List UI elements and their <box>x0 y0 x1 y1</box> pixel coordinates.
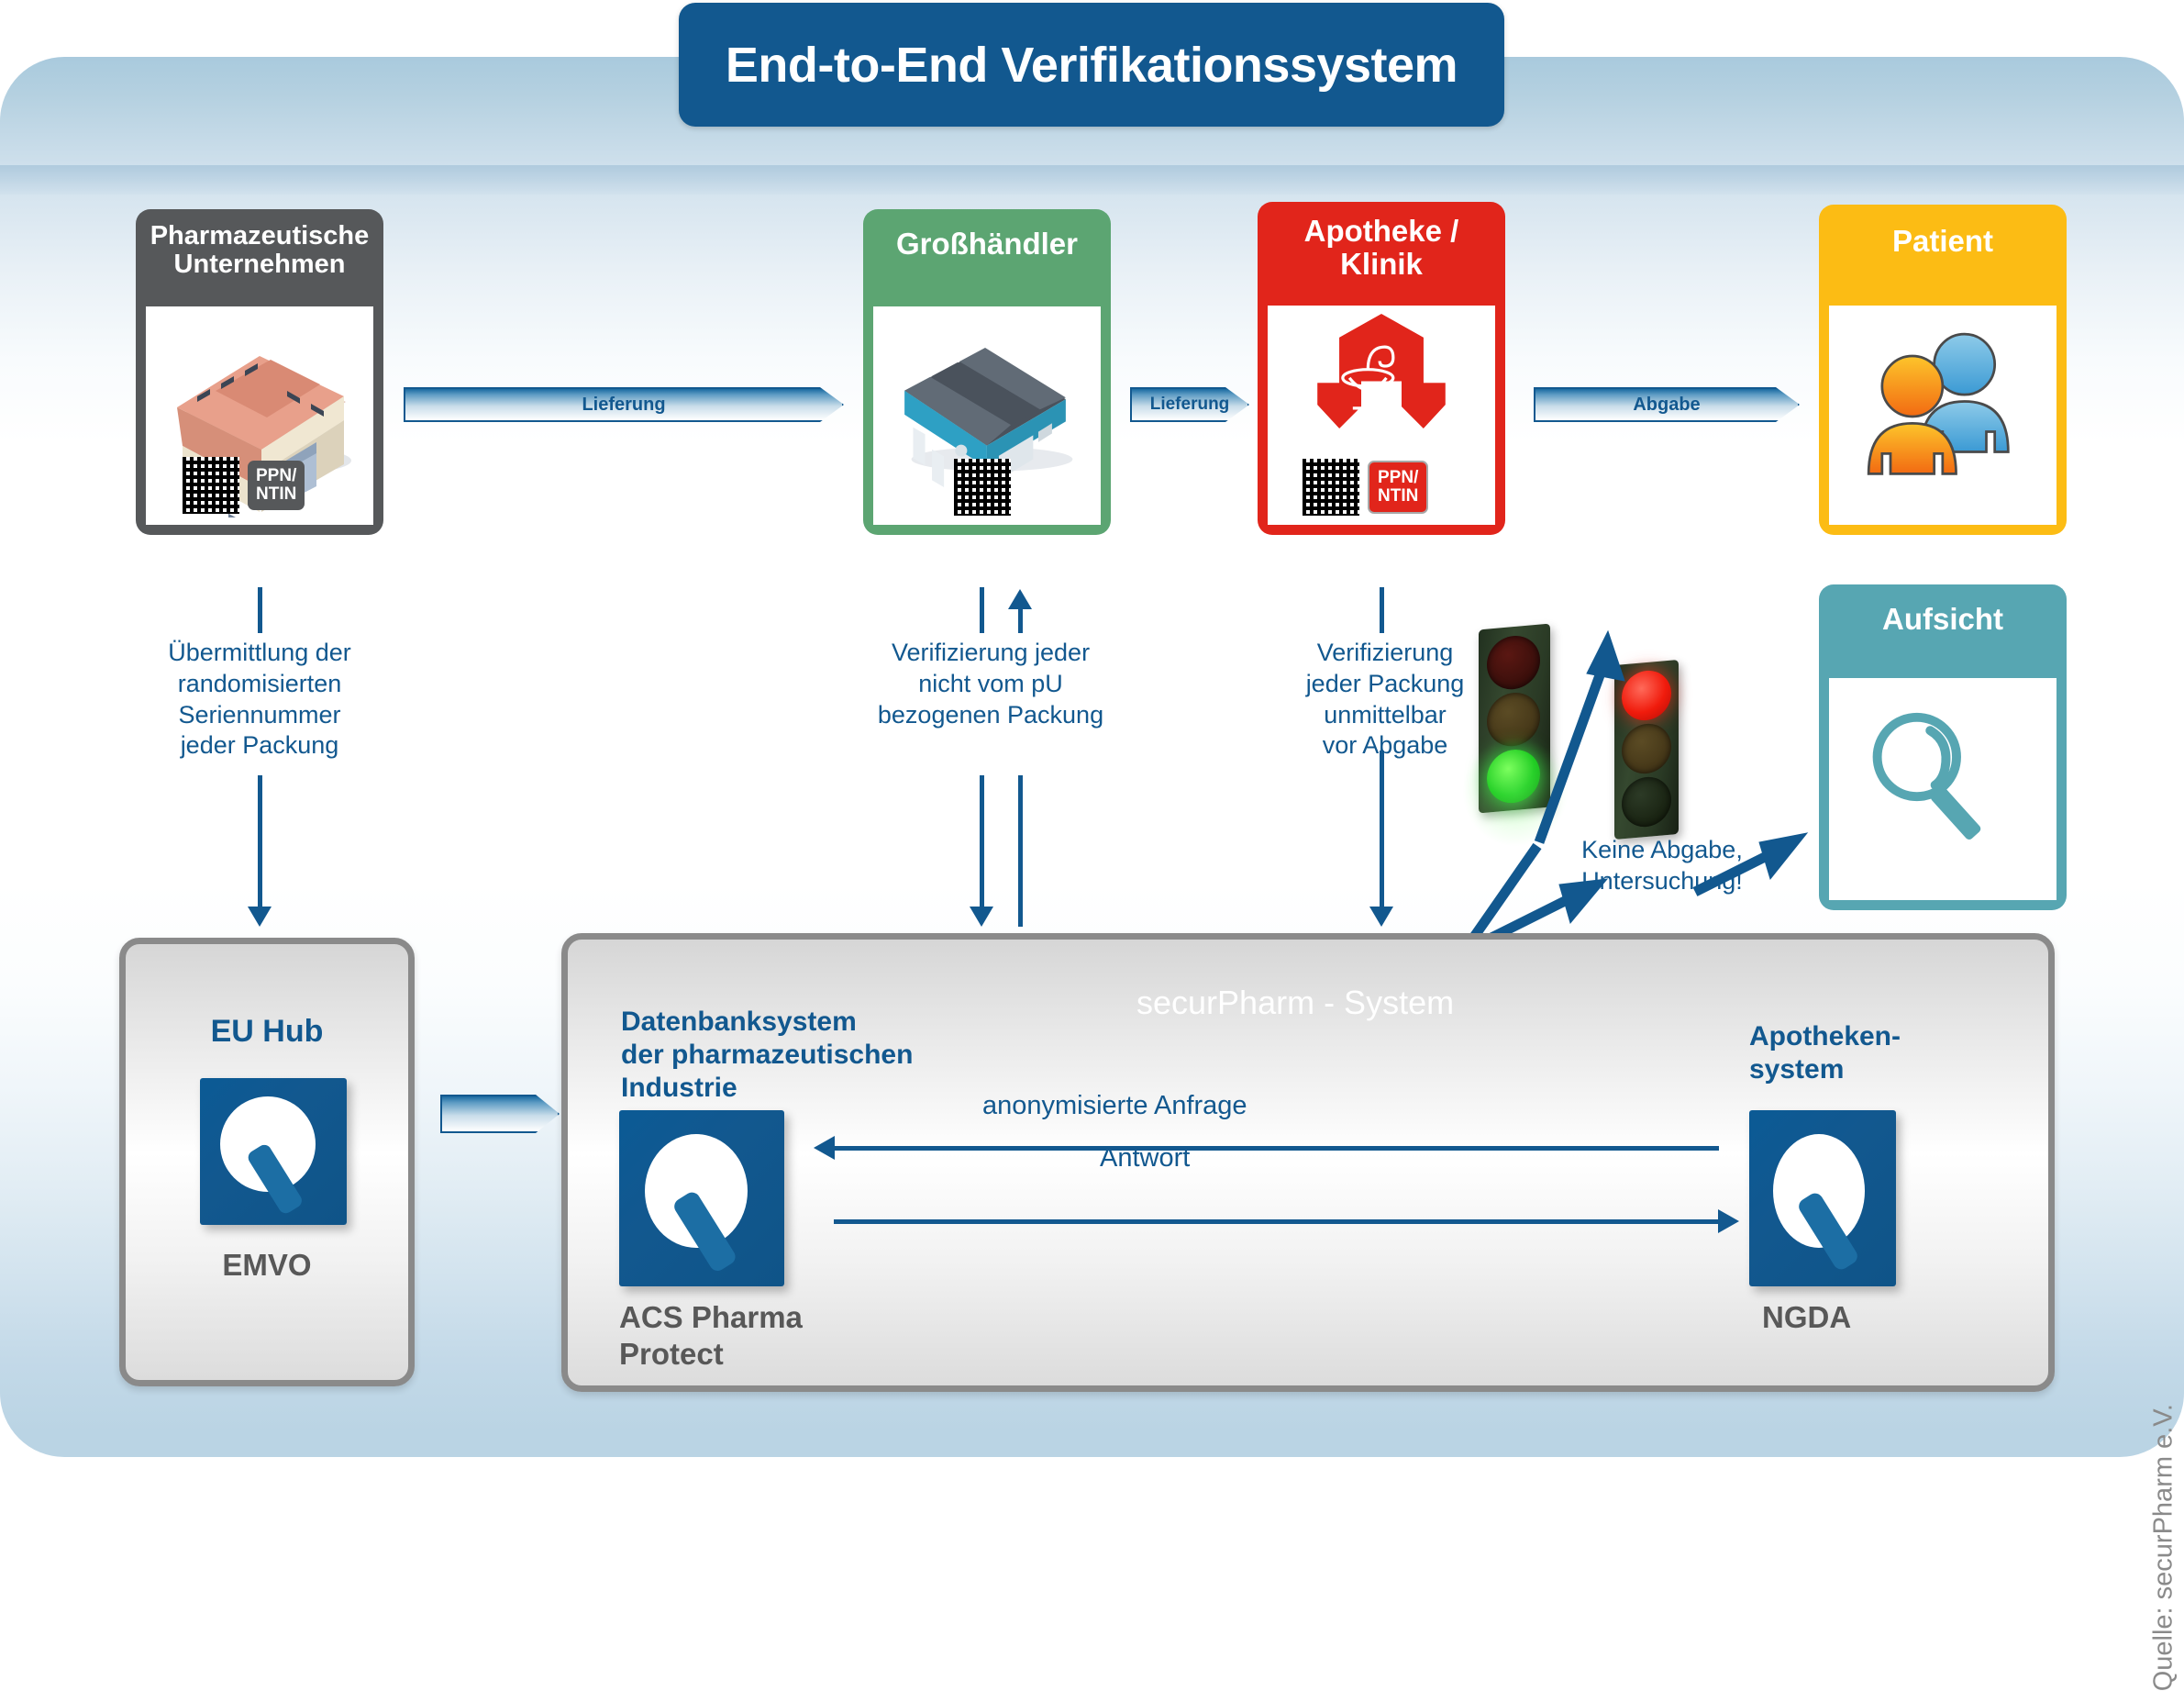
traffic-light-arrows <box>1403 495 1917 1009</box>
label-response: Antwort <box>1100 1143 1190 1174</box>
securpharm-system-title: securPharm - System <box>1136 984 1454 1022</box>
panel-securpharm-system: securPharm - System Datenbanksystem der … <box>561 933 2055 1392</box>
eu-hub-title: EU Hub <box>126 1013 408 1051</box>
connector-tick-gh-down <box>980 587 984 633</box>
arrow-pu-to-db <box>258 775 262 908</box>
connector-tick-ap <box>1380 587 1384 633</box>
pharmacy-system-operator: NGDA <box>1762 1299 1851 1336</box>
card-header-pharmaceutical-company: Pharmazeutische Unternehmen <box>136 209 383 280</box>
label-gh-verify: Verifizierung jeder nicht vom pU bezogen… <box>853 638 1128 730</box>
datamatrix-code-icon <box>954 459 1011 516</box>
securpharm-q-logo <box>200 1078 347 1225</box>
pharmacy-system-title: Apotheken- system <box>1749 1020 1901 1086</box>
card-body-wholesaler <box>873 306 1101 525</box>
flow-arrow-lieferung-2: Lieferung <box>1130 387 1249 422</box>
card-header-wholesaler: Großhändler <box>863 209 1111 261</box>
arrow-response <box>834 1219 1719 1224</box>
eu-hub-operator: EMVO <box>126 1247 408 1284</box>
db-industry-operator: ACS Pharma Protect <box>619 1299 803 1372</box>
card-header-patient: Patient <box>1819 205 2067 258</box>
arrow-ap-to-db <box>1380 751 1384 908</box>
flow-arrow-lieferung-1: Lieferung <box>404 387 844 422</box>
background-stripe <box>0 165 2184 195</box>
card-pharmaceutical-company: Pharmazeutische Unternehmen <box>136 209 383 535</box>
warehouse-building-icon <box>873 306 1101 525</box>
connector-tick-pu <box>258 587 262 633</box>
connector-gh-up-long <box>1018 775 1023 927</box>
label-pu-to-db: Übermittlung der randomisierten Seriennu… <box>129 638 390 762</box>
card-body-pharmaceutical-company: PPN/NTIN <box>146 306 373 525</box>
diagram-title-banner: End-to-End Verifikationssystem <box>679 3 1504 127</box>
datamatrix-code-icon <box>1303 459 1359 516</box>
flow-arrow-abgabe: Abgabe <box>1534 387 1800 422</box>
card-patient: Patient <box>1819 205 2067 535</box>
two-people-icon <box>1829 306 2057 525</box>
flow-arrow-euhub-to-securpharm <box>440 1095 560 1133</box>
ppn-ntin-badge: PPN/NTIN <box>248 461 305 510</box>
securpharm-q-logo <box>1749 1110 1896 1286</box>
card-header-pharmacy-clinic: Apotheke / Klinik <box>1258 202 1505 280</box>
diagram-canvas: End-to-End Verifikationssystem Pharmazeu… <box>0 0 2184 1457</box>
label-anonymous-request: anonymisierte Anfrage <box>982 1091 1247 1121</box>
db-industry-title: Datenbanksystem der pharmazeutischen Ind… <box>621 1006 913 1105</box>
datamatrix-code-icon <box>183 457 239 514</box>
card-wholesaler: Großhändler <box>863 209 1111 535</box>
factory-building-icon: PPN/NTIN <box>146 306 373 525</box>
arrow-anonymous-request <box>834 1146 1719 1151</box>
pharmacy-a-icon: PPN/NTIN <box>1268 306 1495 525</box>
securpharm-q-logo <box>619 1110 784 1286</box>
card-pharmacy-clinic: Apotheke / Klinik <box>1258 202 1505 535</box>
arrow-gh-down <box>980 775 984 908</box>
panel-eu-hub: EU Hub EMVO <box>119 938 415 1386</box>
card-body-pharmacy-clinic: PPN/NTIN <box>1268 306 1495 525</box>
source-credit: Quelle: securPharm e.V. <box>2148 1404 2178 1691</box>
diagram-title: End-to-End Verifikationssystem <box>726 37 1458 94</box>
arrow-gh-up <box>1018 607 1023 633</box>
card-body-patient <box>1829 306 2057 525</box>
label-no-dispense: Keine Abgabe, Untersuchung! <box>1534 835 1790 897</box>
